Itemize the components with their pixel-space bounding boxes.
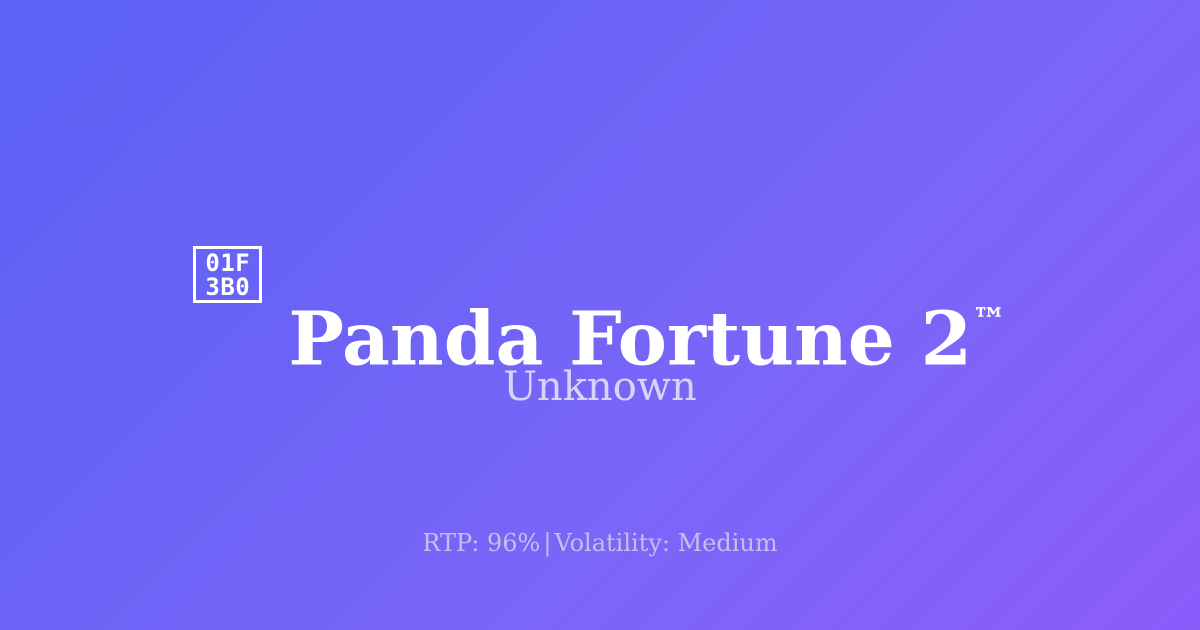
slot-machine-emoji: 01F 3B0 [193,246,262,303]
game-provider-subtitle: Unknown [0,362,1200,412]
volatility-value: Volatility: Medium [554,529,777,557]
rtp-value: RTP: 96% [422,529,540,557]
game-preview-card: 01F 3B0 Panda Fortune 2™ Unknown RTP: 96… [0,0,1200,630]
tofu-codepoint-top: 01F [205,251,250,275]
game-stats-line: RTP: 96%|Volatility: Medium [0,527,1200,559]
meta-separator: | [540,529,554,557]
trademark-symbol: ™ [972,301,1007,341]
tofu-codepoint-bottom: 3B0 [205,275,250,299]
